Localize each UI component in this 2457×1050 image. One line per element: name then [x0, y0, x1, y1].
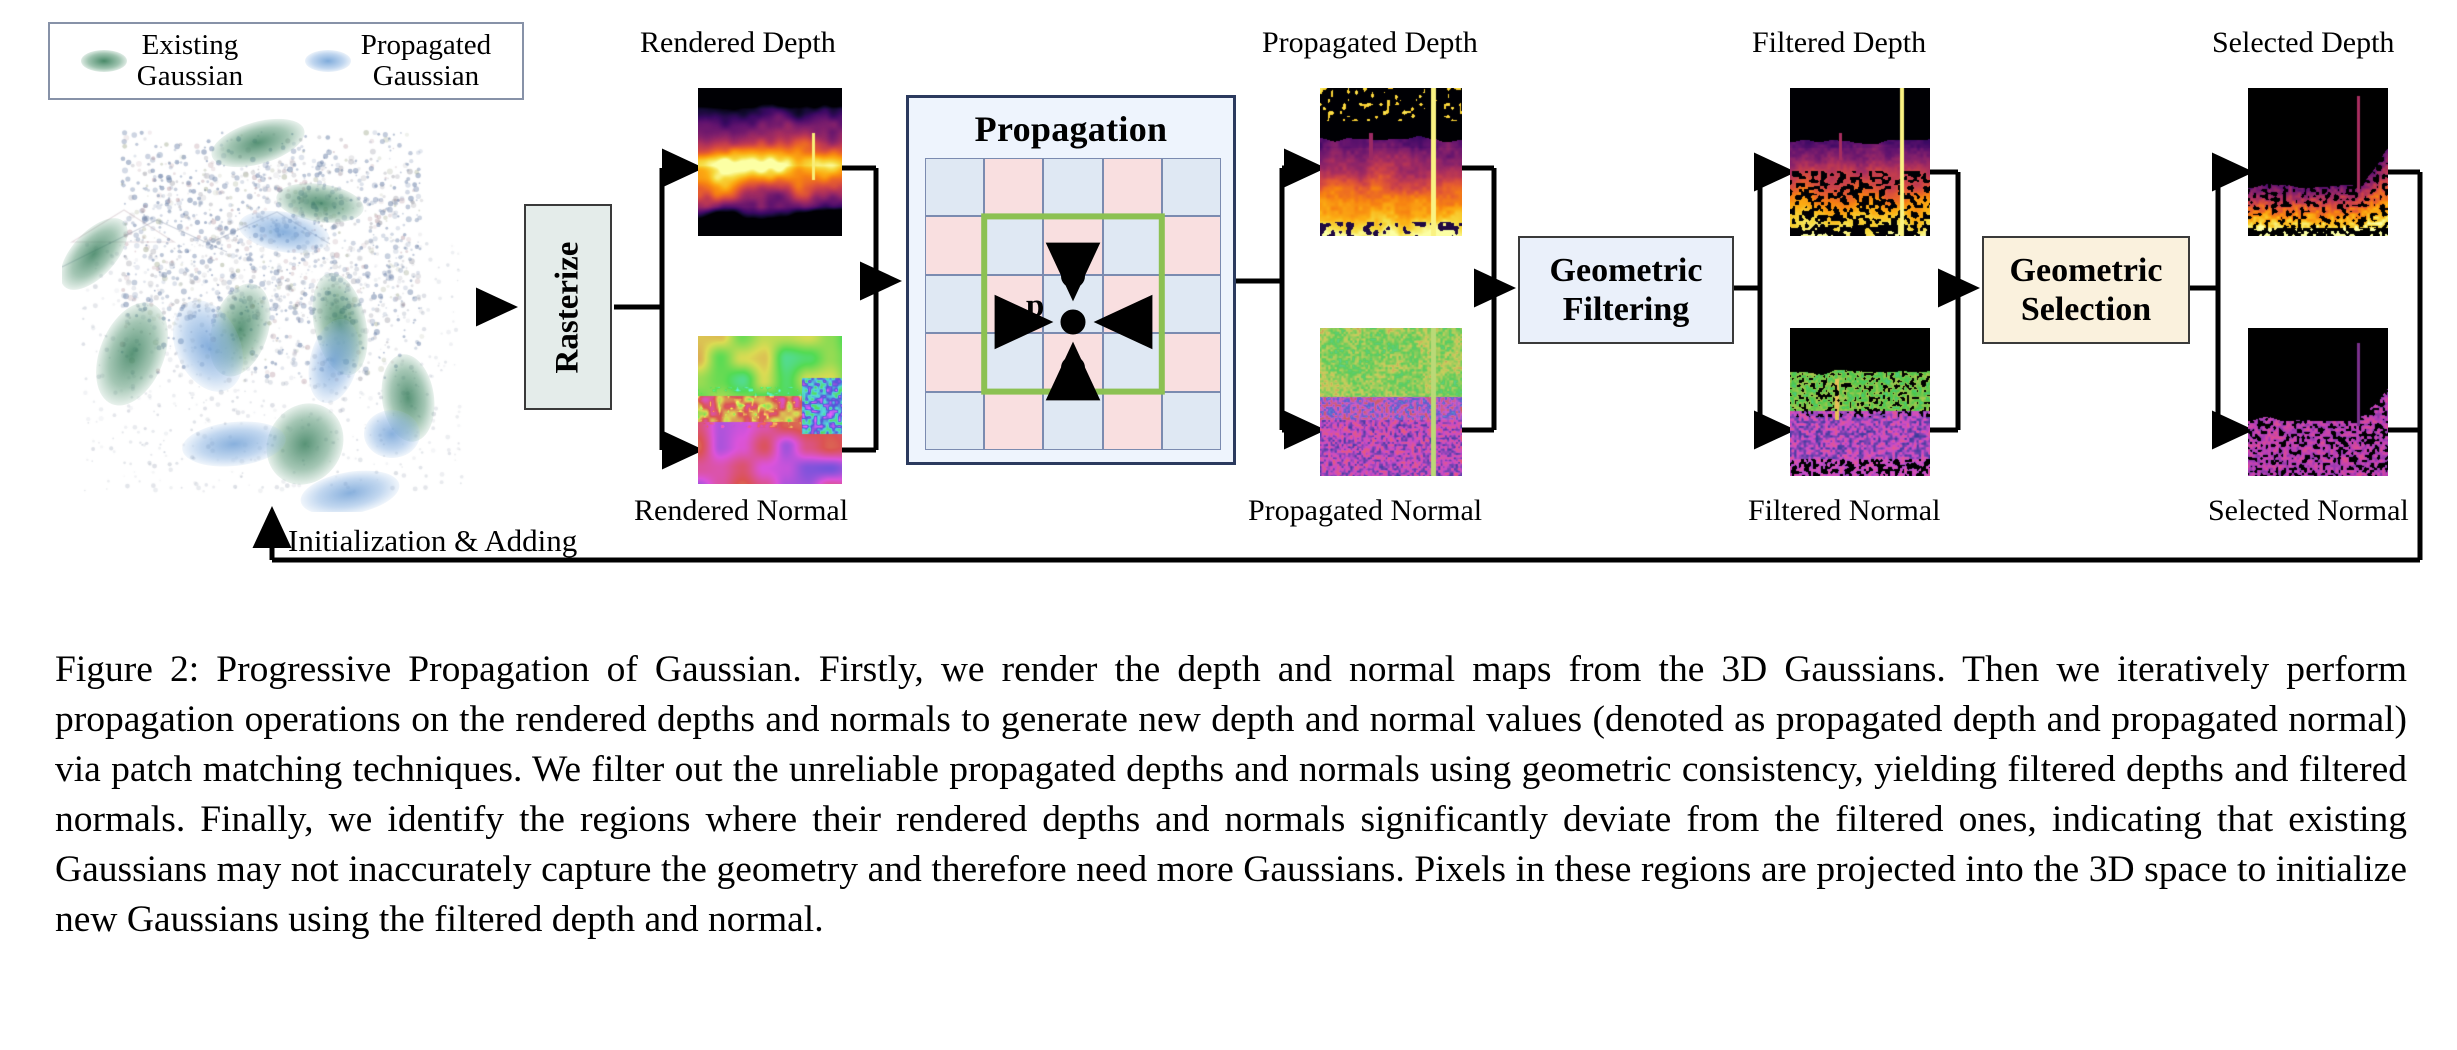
- propagation-cell: [984, 158, 1043, 216]
- selected-depth-image: [2248, 88, 2388, 236]
- propagated-normal-image: [1320, 328, 1462, 476]
- geometric-selection-label: Geometric Selection: [2010, 251, 2163, 330]
- geometric-selection-block: Geometric Selection: [1982, 236, 2190, 344]
- propagation-grid: [925, 158, 1221, 450]
- propagation-cell: [1162, 392, 1221, 450]
- selected-normal-label: Selected Normal: [2208, 494, 2409, 528]
- filtered-depth-label: Filtered Depth: [1752, 26, 1926, 60]
- propagation-cell: [1043, 216, 1102, 274]
- propagation-cell: [925, 275, 984, 333]
- selected-normal-image: [2248, 328, 2388, 476]
- legend-item-propagated-gaussian: Propagated Gaussian: [305, 30, 491, 91]
- propagation-cell: [1162, 275, 1221, 333]
- geometric-filtering-label: Geometric Filtering: [1550, 251, 1703, 330]
- propagation-cell: [925, 216, 984, 274]
- gaussian-ellipse-green-icon: [81, 50, 127, 72]
- propagation-cell: [925, 392, 984, 450]
- propagation-cell: [1103, 275, 1162, 333]
- rendered-depth-label: Rendered Depth: [640, 26, 836, 60]
- rendered-normal-label: Rendered Normal: [634, 494, 848, 528]
- propagation-cell: [925, 158, 984, 216]
- legend-label-propagated: Propagated Gaussian: [361, 30, 491, 91]
- propagation-point-label: p: [1026, 288, 1044, 325]
- pipeline-diagram: Existing Gaussian Propagated Gaussian Ra…: [0, 0, 2457, 620]
- filtered-normal-label: Filtered Normal: [1748, 494, 1940, 528]
- propagation-cell: [1162, 216, 1221, 274]
- propagation-cell: [1103, 158, 1162, 216]
- propagated-depth-label: Propagated Depth: [1262, 26, 1478, 60]
- filtered-depth-image: [1790, 88, 1930, 236]
- propagation-cell: [1103, 216, 1162, 274]
- rasterize-block: Rasterize: [524, 204, 612, 410]
- propagation-cell: [1103, 392, 1162, 450]
- propagation-cell: [1162, 333, 1221, 391]
- legend: Existing Gaussian Propagated Gaussian: [48, 22, 524, 100]
- selected-depth-label: Selected Depth: [2212, 26, 2394, 60]
- propagation-cell: [1043, 333, 1102, 391]
- propagation-title: Propagation: [909, 108, 1233, 150]
- propagation-cell: [1103, 333, 1162, 391]
- propagation-cell: [984, 333, 1043, 391]
- feedback-loop-label: Initialization & Adding: [288, 523, 577, 559]
- propagation-cell: [1043, 392, 1102, 450]
- propagation-cell: [1043, 158, 1102, 216]
- geometric-filtering-block: Geometric Filtering: [1518, 236, 1734, 344]
- rasterize-label: Rasterize: [550, 241, 587, 373]
- propagation-cell: [925, 333, 984, 391]
- propagation-block: Propagation p: [906, 95, 1236, 465]
- filtered-normal-image: [1790, 328, 1930, 476]
- propagation-cell: [1043, 275, 1102, 333]
- propagation-cell: [1162, 158, 1221, 216]
- rendered-normal-image: [698, 336, 842, 484]
- propagated-depth-image: [1320, 88, 1462, 236]
- legend-label-existing: Existing Gaussian: [137, 30, 243, 91]
- propagated-normal-label: Propagated Normal: [1248, 494, 1482, 528]
- propagation-cell: [984, 392, 1043, 450]
- rendered-depth-image: [698, 88, 842, 236]
- gaussian-ellipse-blue-icon: [305, 50, 351, 72]
- legend-item-existing-gaussian: Existing Gaussian: [81, 30, 243, 91]
- propagation-cell: [984, 216, 1043, 274]
- figure-caption: Figure 2: Progressive Propagation of Gau…: [55, 645, 2407, 945]
